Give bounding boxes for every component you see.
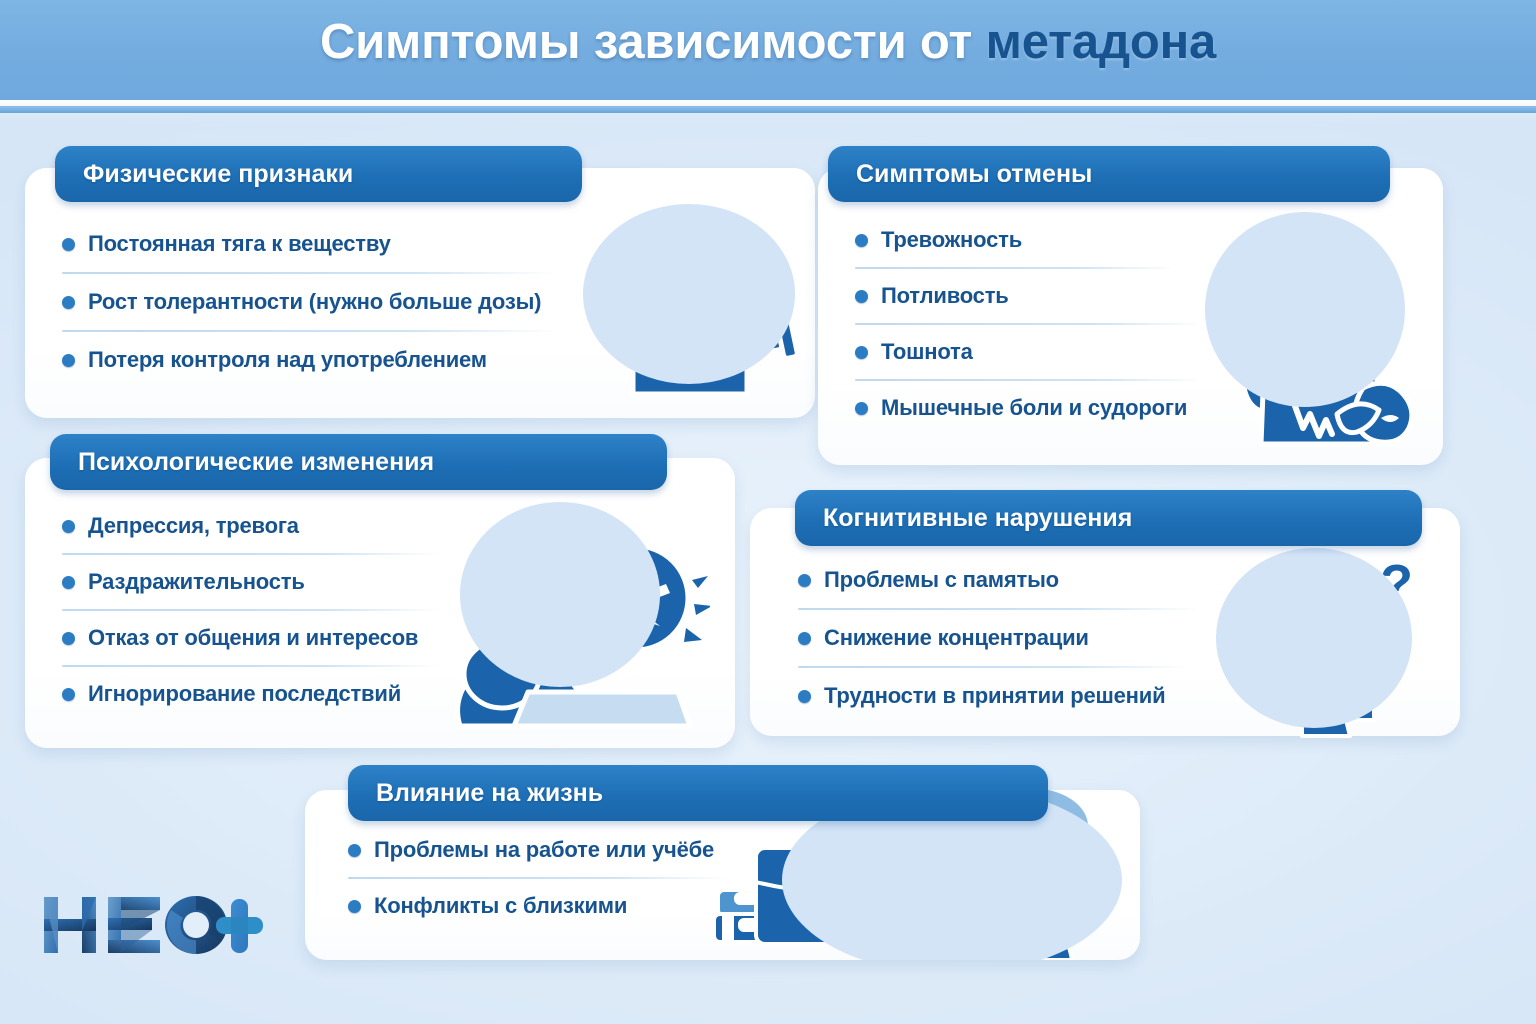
list-item-label: Потеря контроля над употреблением bbox=[88, 347, 487, 373]
logo-plus-symbol bbox=[216, 899, 263, 953]
bullet-icon bbox=[348, 900, 361, 913]
bullet-icon bbox=[62, 296, 75, 309]
card-title-psychological-changes[interactable]: Психологические изменения bbox=[50, 434, 667, 490]
list-item[interactable]: Депрессия, тревога bbox=[62, 508, 462, 544]
list-item[interactable]: Игнорирование последствий bbox=[62, 676, 462, 712]
list-separator bbox=[855, 267, 1175, 269]
card-title-withdrawal-symptoms[interactable]: Симптомы отмены bbox=[828, 146, 1390, 202]
list-item[interactable]: Проблемы на работе или учёбе bbox=[348, 832, 748, 868]
sad-person-angry-face-icon bbox=[440, 492, 710, 732]
bullet-icon bbox=[62, 520, 75, 533]
list-item[interactable]: Тревожность bbox=[855, 222, 1200, 258]
list-separator bbox=[62, 272, 558, 274]
bullet-list-life-impact: Проблемы на работе или учёбе Конфликты с… bbox=[348, 832, 748, 924]
bullet-icon bbox=[798, 690, 811, 703]
list-item-label: Конфликты с близкими bbox=[374, 893, 627, 919]
bullet-icon bbox=[62, 632, 75, 645]
list-item-label: Тошнота bbox=[881, 339, 973, 365]
list-item[interactable]: Мышечные боли и судороги bbox=[855, 390, 1200, 426]
header-divider-blue bbox=[0, 106, 1536, 113]
bullet-icon bbox=[855, 346, 868, 359]
bullet-icon bbox=[62, 576, 75, 589]
list-item-label: Игнорирование последствий bbox=[88, 681, 401, 707]
card-title-label: Когнитивные нарушения bbox=[823, 504, 1132, 533]
list-item[interactable]: Проблемы с памятыо bbox=[798, 562, 1218, 598]
bullet-list-withdrawal-symptoms: Тревожность Потливость Тошнота Мышечные … bbox=[855, 222, 1200, 426]
list-separator bbox=[62, 609, 440, 611]
bullet-icon bbox=[798, 574, 811, 587]
list-item-label: Раздражительность bbox=[88, 569, 305, 595]
list-item-label: Тревожность bbox=[881, 227, 1022, 253]
neo-plus-logo[interactable] bbox=[38, 885, 263, 965]
list-separator bbox=[62, 553, 440, 555]
list-item-label: Потливость bbox=[881, 283, 1009, 309]
list-item-label: Отказ от общения и интересов bbox=[88, 625, 418, 651]
list-item-label: Рост толерантности (нужно больше дозы) bbox=[88, 289, 541, 315]
list-separator bbox=[798, 608, 1200, 610]
list-item-label: Снижение концентрации bbox=[824, 625, 1089, 651]
stressed-person-syringe-icon bbox=[575, 190, 805, 400]
header-divider-fade bbox=[0, 113, 1536, 123]
list-item-label: Проблемы на работе или учёбе bbox=[374, 837, 714, 863]
bullet-icon bbox=[348, 844, 361, 857]
list-item[interactable]: Снижение концентрации bbox=[798, 620, 1218, 656]
bullet-icon bbox=[855, 290, 868, 303]
list-item[interactable]: Потеря контроля над употреблением bbox=[62, 342, 572, 378]
page-header: Симптомы зависимости от метадона bbox=[0, 0, 1536, 100]
list-item-label: Депрессия, тревога bbox=[88, 513, 299, 539]
list-separator bbox=[855, 323, 1203, 325]
list-separator bbox=[798, 666, 1188, 668]
infographic-page: Симптомы зависимости от метадона Физичес… bbox=[0, 0, 1536, 1024]
list-separator bbox=[855, 379, 1203, 381]
list-separator bbox=[348, 877, 726, 879]
card-title-label: Физические признаки bbox=[83, 160, 353, 189]
list-item[interactable]: Рост толерантности (нужно больше дозы) bbox=[62, 284, 572, 320]
list-item[interactable]: Конфликты с близкими bbox=[348, 888, 748, 924]
page-title-accent: метадона bbox=[986, 15, 1216, 69]
list-item-label: Постоянная тяга к веществу bbox=[88, 231, 391, 257]
list-item-label: Мышечные боли и судороги bbox=[881, 395, 1187, 421]
logo-letter-e bbox=[108, 897, 160, 953]
card-title-label: Психологические изменения bbox=[78, 448, 434, 477]
bullet-icon bbox=[855, 402, 868, 415]
page-title: Симптомы зависимости от метадона bbox=[0, 14, 1536, 70]
card-title-cognitive-impairment[interactable]: Когнитивные нарушения bbox=[795, 490, 1422, 546]
list-separator bbox=[62, 330, 558, 332]
list-item-label: Трудности в принятии решений bbox=[824, 683, 1165, 709]
bullet-icon bbox=[62, 238, 75, 251]
list-item[interactable]: Отказ от общения и интересов bbox=[62, 620, 462, 656]
bullet-list-psychological-changes: Депрессия, тревога Раздражительность Отк… bbox=[62, 508, 462, 712]
card-title-label: Влияние на жизнь bbox=[376, 779, 603, 808]
list-item[interactable]: Раздражительность bbox=[62, 564, 462, 600]
list-item[interactable]: Тошнота bbox=[855, 334, 1200, 370]
bullet-icon bbox=[62, 354, 75, 367]
bullet-icon bbox=[855, 234, 868, 247]
card-title-physical-signs[interactable]: Физические признаки bbox=[55, 146, 582, 202]
list-separator bbox=[62, 665, 440, 667]
bullet-icon bbox=[62, 688, 75, 701]
list-item-label: Проблемы с памятыо bbox=[824, 567, 1059, 593]
list-item[interactable]: Потливость bbox=[855, 278, 1200, 314]
list-item[interactable]: Трудности в принятии решений bbox=[798, 678, 1218, 714]
head-brain-question-icon: ? ? bbox=[1212, 540, 1442, 740]
card-title-life-impact[interactable]: Влияние на жизнь bbox=[348, 765, 1048, 821]
logo-letter-n bbox=[44, 897, 96, 953]
sweating-person-cramps-icon bbox=[1195, 200, 1440, 450]
page-title-main: Симптомы зависимости от bbox=[320, 15, 986, 69]
card-title-label: Симптомы отмены bbox=[856, 160, 1092, 189]
bullet-list-physical-signs: Постоянная тяга к веществу Рост толерант… bbox=[62, 226, 572, 378]
bullet-icon bbox=[798, 632, 811, 645]
list-item[interactable]: Постоянная тяга к веществу bbox=[62, 226, 572, 262]
bullet-list-cognitive-impairment: Проблемы с памятыо Снижение концентрации… bbox=[798, 562, 1218, 714]
